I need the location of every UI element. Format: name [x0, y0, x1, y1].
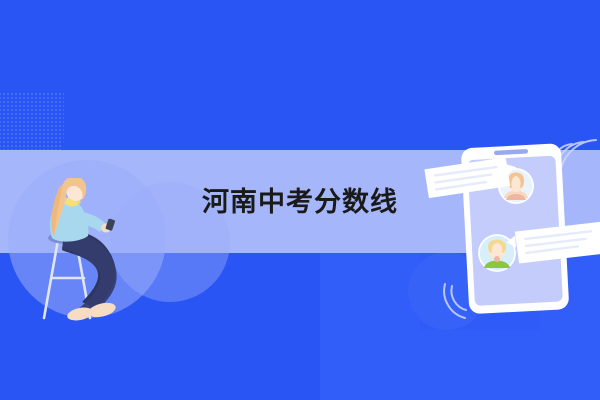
- concentric-arcs-bottom: [444, 284, 466, 318]
- page-title: 河南中考分数线: [0, 183, 600, 223]
- smartphone-chat-illustration: [420, 128, 600, 328]
- banner-image: 河南中考分数线: [0, 0, 600, 400]
